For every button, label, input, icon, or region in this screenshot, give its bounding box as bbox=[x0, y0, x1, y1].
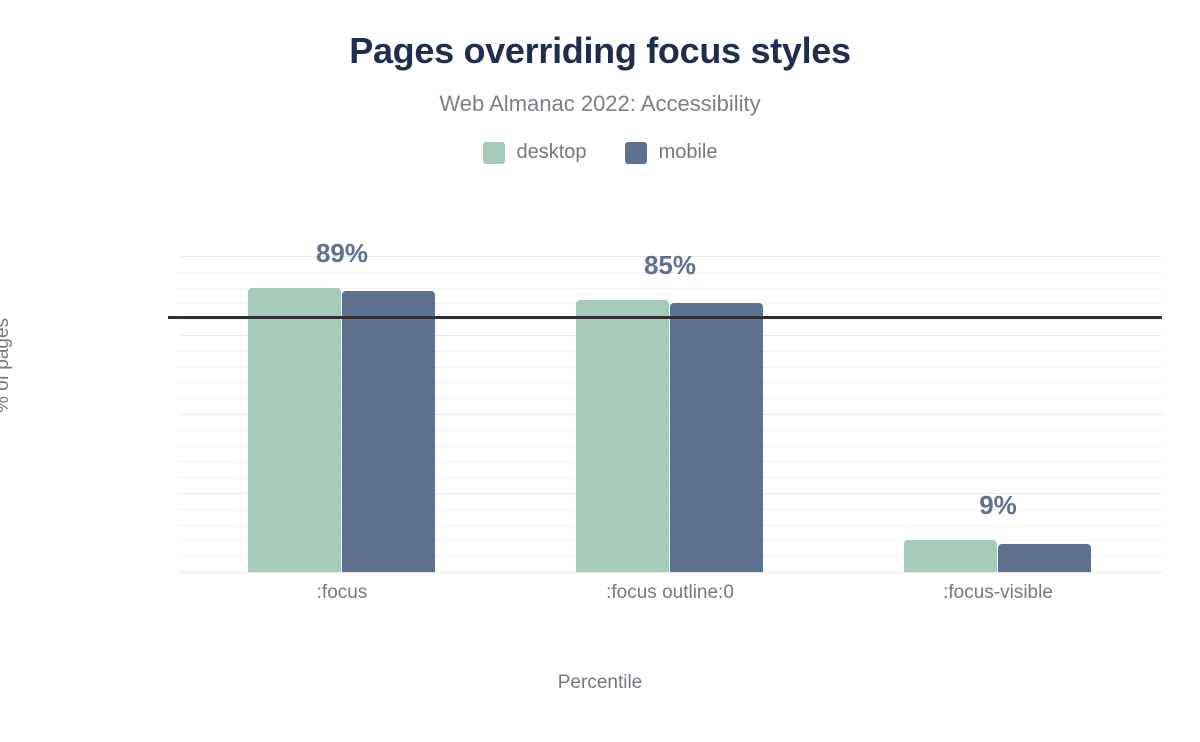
chart-title: Pages overriding focus styles bbox=[0, 30, 1200, 72]
legend-swatch-desktop bbox=[483, 142, 505, 164]
x-axis-tick-label: :focus outline:0 bbox=[606, 582, 734, 604]
x-axis-tick-label: :focus bbox=[317, 582, 368, 604]
bar-desktop-2[interactable] bbox=[904, 540, 997, 572]
bar-mobile-0[interactable] bbox=[342, 291, 435, 572]
x-axis-baseline bbox=[168, 316, 1162, 319]
chart-subtitle: Web Almanac 2022: Accessibility bbox=[0, 91, 1200, 117]
bar-desktop-1[interactable] bbox=[576, 300, 669, 572]
legend-item-desktop[interactable]: desktop bbox=[483, 141, 587, 164]
data-label: 9% bbox=[979, 490, 1017, 521]
bar-chart: Pages overriding focus styles Web Almana… bbox=[0, 0, 1200, 742]
bar-mobile-1[interactable] bbox=[670, 303, 763, 572]
bar-mobile-2[interactable] bbox=[998, 544, 1091, 572]
legend-swatch-mobile bbox=[625, 142, 647, 164]
x-axis-title: Percentile bbox=[0, 672, 1200, 694]
legend-item-mobile[interactable]: mobile bbox=[625, 141, 718, 164]
y-axis-title: % of pages bbox=[0, 318, 14, 413]
data-label: 89% bbox=[316, 238, 368, 269]
gridline bbox=[178, 572, 1162, 573]
legend-label-desktop: desktop bbox=[517, 141, 587, 164]
bars-layer bbox=[178, 256, 1162, 572]
legend-label-mobile: mobile bbox=[659, 141, 718, 164]
data-label: 85% bbox=[644, 250, 696, 281]
x-axis-tick-label: :focus-visible bbox=[943, 582, 1053, 604]
bar-desktop-0[interactable] bbox=[248, 288, 341, 572]
chart-legend: desktop mobile bbox=[0, 141, 1200, 164]
